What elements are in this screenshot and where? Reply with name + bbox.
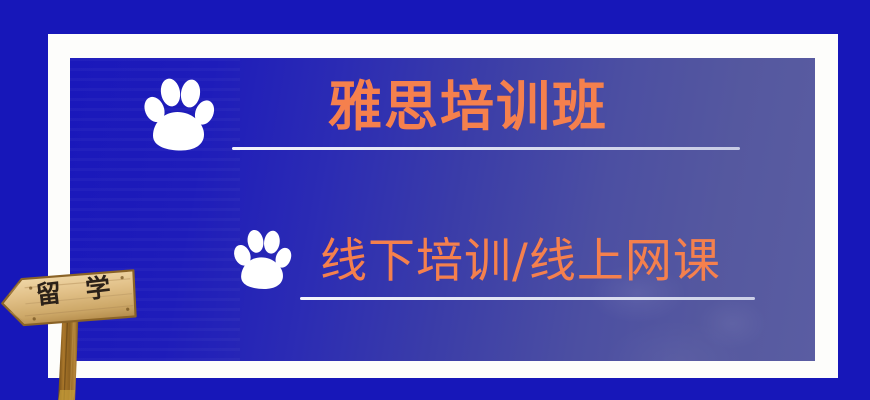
- paw-print-icon: [137, 74, 215, 154]
- wooden-signpost-icon: [0, 252, 156, 400]
- promo-banner: 雅思培训班 线下培训/线上网课: [0, 0, 870, 400]
- page-title: 雅思培训班: [328, 78, 608, 136]
- subtitle-divider: [300, 297, 755, 300]
- title-divider: [232, 147, 740, 150]
- paw-print-icon: [228, 226, 292, 292]
- page-subtitle: 线下培训/线上网课: [320, 236, 721, 288]
